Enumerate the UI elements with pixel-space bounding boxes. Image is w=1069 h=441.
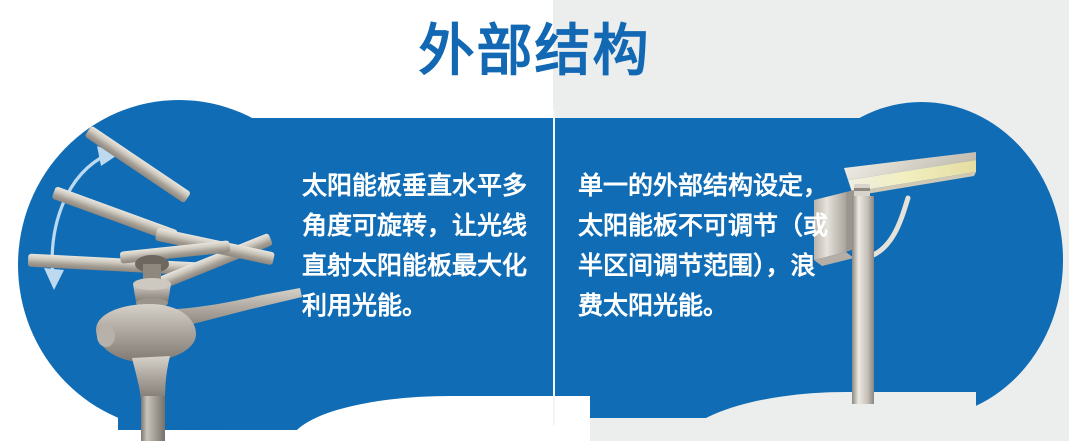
rotating-solar-street-light-illustration bbox=[0, 96, 320, 441]
right-panel-description: 单一的外部结构设定，太阳能板不可调节（或半区间调节范围），浪费太阳光能。 bbox=[578, 166, 828, 326]
page-title: 外部结构 bbox=[0, 16, 1069, 86]
panel-divider bbox=[553, 110, 555, 425]
left-panel-description: 太阳能板垂直水平多角度可旋转，让光线直射太阳能板最大化利用光能。 bbox=[302, 166, 547, 326]
slide-canvas: 外部结构 bbox=[0, 0, 1069, 441]
pole bbox=[852, 196, 874, 404]
pole bbox=[141, 396, 165, 441]
fixed-solar-street-light-illustration bbox=[800, 140, 1030, 410]
